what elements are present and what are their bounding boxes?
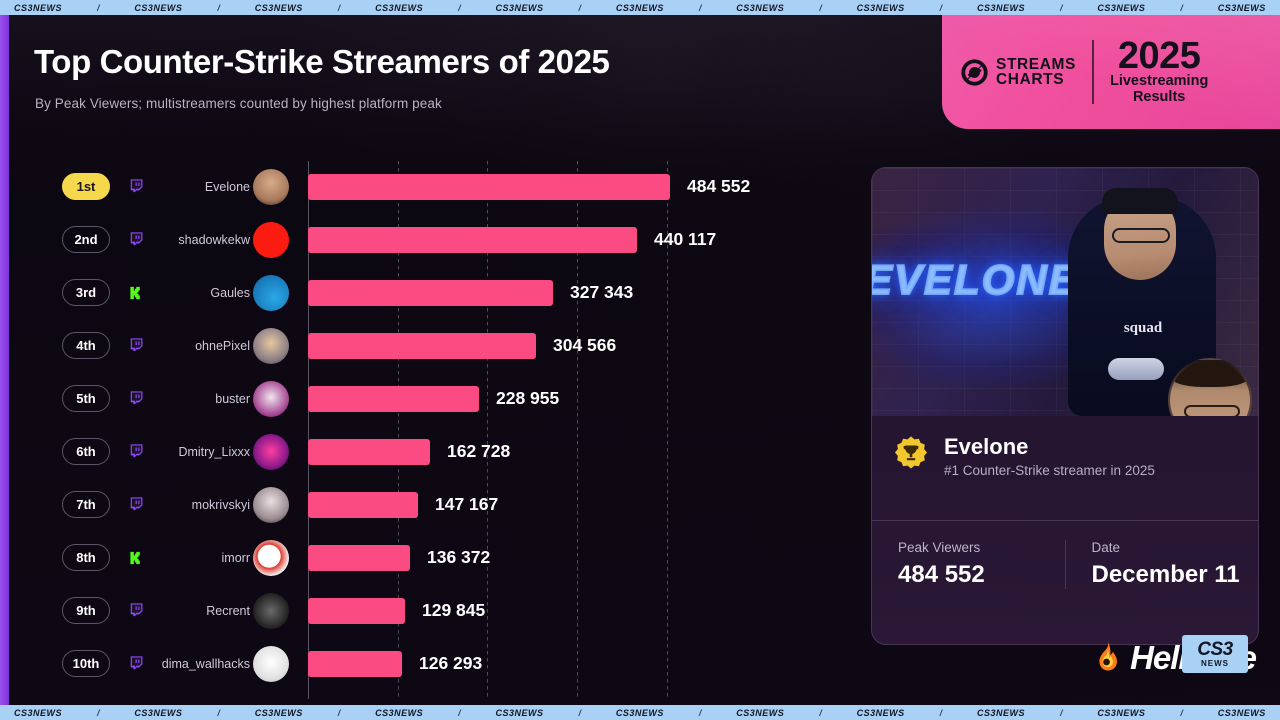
rank-badge: 10th [62,650,110,677]
cs3news-badge-line2: NEWS [1201,660,1229,668]
ticker-separator: / [97,3,100,13]
chart-row[interactable]: 2ndshadowkekw440 117 [0,213,820,266]
ticker-separator: / [217,708,220,718]
value-bar [308,280,553,306]
stat-value: 484 552 [898,561,1065,589]
value-bar [308,439,430,465]
twitch-icon [128,390,145,407]
rank-badge: 4th [62,332,110,359]
ticker-separator: / [1180,3,1183,13]
ticker-separator: / [338,708,341,718]
trophy-badge-icon [892,435,930,473]
ticker-separator: / [97,708,100,718]
twitch-icon [128,231,145,248]
ticker-label: CS3NEWS [255,3,303,13]
avatar [253,222,289,258]
stat-value: December 11 [1092,561,1259,589]
avatar [253,169,289,205]
rank-badge: 2nd [62,226,110,253]
ticker-separator: / [578,3,581,13]
card-divider [872,520,1258,521]
value-bar [308,386,479,412]
chart-row[interactable]: 9thRecrent129 845 [0,584,820,637]
game-controller-icon [1108,358,1164,380]
kick-icon [128,550,144,566]
brand-divider [1092,40,1094,104]
stat-date: Date December 11 [1065,540,1259,589]
rank-badge: 6th [62,438,110,465]
ticker-separator: / [338,3,341,13]
streamer-ranking-chart: 1stEvelone484 5522ndshadowkekw440 1173rd… [0,155,820,705]
value-label: 147 167 [435,494,498,515]
platform-icon [126,548,146,568]
featured-streamer-tagline: #1 Counter-Strike streamer in 2025 [944,463,1238,478]
brand-subtitle-line2: Results [1110,90,1208,106]
streamer-headband [1102,188,1178,214]
hoodie-text: squad [1084,320,1202,337]
ticker-label: CS3NEWS [14,708,62,718]
twitch-icon [128,337,145,354]
webcam-cap [1170,360,1250,387]
twitch-icon [128,178,145,195]
value-label: 228 955 [496,388,559,409]
value-bar [308,227,637,253]
page-subtitle: By Peak Viewers; multistreamers counted … [35,96,442,111]
chart-row[interactable]: 8thimorr136 372 [0,531,820,584]
brand-year: 2025 [1110,38,1208,74]
streamer-name: dima_wallhacks [150,657,250,671]
platform-icon [126,230,146,250]
avatar [253,593,289,629]
brand-name-line2: CHARTS [996,72,1076,88]
rank-badge: 1st [62,173,110,200]
streams-charts-logo-icon [960,58,989,87]
ticker-label: CS3NEWS [14,3,62,13]
ticker-separator: / [819,3,822,13]
streamer-name: mokrivskyi [150,498,250,512]
platform-icon [126,601,146,621]
ticker-label: CS3NEWS [616,3,664,13]
ticker-label: CS3NEWS [616,708,664,718]
streamer-name: Recrent [150,604,250,618]
value-bar [308,333,536,359]
avatar [253,646,289,682]
streamer-name: Evelone [150,180,250,194]
avatar [253,381,289,417]
ticker-label: CS3NEWS [1218,708,1266,718]
value-bar [308,174,670,200]
page-title: Top Counter-Strike Streamers of 2025 [34,43,610,81]
platform-icon [126,389,146,409]
ticker-label: CS3NEWS [736,708,784,718]
ticker-separator: / [940,3,943,13]
streams-charts-logo: STREAMS CHARTS [960,57,1076,88]
ticker-label: CS3NEWS [496,708,544,718]
value-label: 327 343 [570,282,633,303]
ticker-label: CS3NEWS [736,3,784,13]
ticker-separator: / [1180,708,1183,718]
avatar [253,434,289,470]
ticker-label: CS3NEWS [1097,3,1145,13]
chart-row[interactable]: 5thbuster228 955 [0,372,820,425]
brand-name-line1: STREAMS [996,57,1076,73]
infographic-stage: Top Counter-Strike Streamers of 2025 By … [0,15,1280,705]
chart-row[interactable]: 7thmokrivskyi147 167 [0,478,820,531]
featured-streamer-name: Evelone [944,435,1238,459]
platform-icon [126,283,146,303]
value-label: 162 728 [447,441,510,462]
rank-badge: 3rd [62,279,110,306]
kick-icon [128,285,144,301]
neon-sign-text: EVELONE [872,256,1079,304]
streamer-name: buster [150,392,250,406]
rank-badge: 7th [62,491,110,518]
streamer-name: shadowkekw [150,233,250,247]
ticker-separator: / [940,708,943,718]
chart-row[interactable]: 3rdGaules327 343 [0,266,820,319]
value-label: 484 552 [687,176,750,197]
brand-badge: STREAMS CHARTS 2025 Livestreaming Result… [942,15,1280,129]
ticker-separator: / [458,708,461,718]
ticker-label: CS3NEWS [977,3,1025,13]
value-label: 126 293 [419,653,482,674]
value-label: 129 845 [422,600,485,621]
ticker-separator: / [1060,3,1063,13]
ticker-separator: / [1060,708,1063,718]
ticker-label: CS3NEWS [134,3,182,13]
value-bar [308,492,418,518]
sponsor-logos[interactable]: Hellcase CS3 NEWS [1089,639,1256,677]
stat-peak-viewers: Peak Viewers 484 552 [872,540,1065,589]
top-ticker-bar: CS3NEWS/CS3NEWS/CS3NEWS/CS3NEWS/CS3NEWS/… [0,0,1280,15]
streamer-name: ohnePixel [150,339,250,353]
streamer-name: Dmitry_Lixxx [150,445,250,459]
webcam-glasses-icon [1184,405,1240,416]
value-bar [308,598,405,624]
featured-stats: Peak Viewers 484 552 Date December 11 [872,540,1258,589]
avatar [253,540,289,576]
brand-subtitle-line1: Livestreaming [1110,74,1208,90]
value-label: 136 372 [427,547,490,568]
value-label: 440 117 [654,229,716,250]
ticker-label: CS3NEWS [134,708,182,718]
left-purple-edge [0,15,9,705]
ticker-separator: / [217,3,220,13]
cs3news-badge-line1: CS3 [1197,640,1232,659]
twitch-icon [128,655,145,672]
rank-badge: 8th [62,544,110,571]
streamer-glasses-icon [1112,228,1170,243]
avatar [253,275,289,311]
ticker-label: CS3NEWS [375,3,423,13]
bottom-ticker-bar: CS3NEWS/CS3NEWS/CS3NEWS/CS3NEWS/CS3NEWS/… [0,705,1280,720]
stat-label: Peak Viewers [898,540,1065,555]
platform-icon [126,336,146,356]
rank-badge: 9th [62,597,110,624]
ticker-label: CS3NEWS [857,708,905,718]
ticker-label: CS3NEWS [1218,3,1266,13]
cs3news-badge[interactable]: CS3 NEWS [1182,635,1248,673]
ticker-label: CS3NEWS [255,708,303,718]
avatar [253,487,289,523]
stream-thumbnail: EVELONE squad [872,168,1258,416]
value-bar [308,651,402,677]
twitch-icon [128,496,145,513]
value-label: 304 566 [553,335,616,356]
ticker-separator: / [578,708,581,718]
twitch-icon [128,443,145,460]
ticker-label: CS3NEWS [496,3,544,13]
ticker-separator: / [458,3,461,13]
streamer-name: imorr [150,551,250,565]
webcam-overlay-avatar [1168,358,1252,416]
value-bar [308,545,410,571]
ticker-label: CS3NEWS [857,3,905,13]
platform-icon [126,442,146,462]
ticker-label: CS3NEWS [1097,708,1145,718]
rank-badge: 5th [62,385,110,412]
ticker-label: CS3NEWS [375,708,423,718]
chart-row[interactable]: 1stEvelone484 552 [0,160,820,213]
platform-icon [126,177,146,197]
chart-row[interactable]: 10thdima_wallhacks126 293 [0,637,820,690]
avatar [253,328,289,364]
featured-streamer-card[interactable]: EVELONE squad Evelone #1 Counter-Strike … [871,167,1259,645]
chart-row[interactable]: 6thDmitry_Lixxx162 728 [0,425,820,478]
platform-icon [126,654,146,674]
ticker-separator: / [699,3,702,13]
platform-icon [126,495,146,515]
twitch-icon [128,602,145,619]
chart-row[interactable]: 4thohnePixel304 566 [0,319,820,372]
ticker-separator: / [699,708,702,718]
ticker-separator: / [819,708,822,718]
streamer-name: Gaules [150,286,250,300]
flame-icon [1089,640,1125,676]
stat-label: Date [1092,540,1259,555]
ticker-label: CS3NEWS [977,708,1025,718]
